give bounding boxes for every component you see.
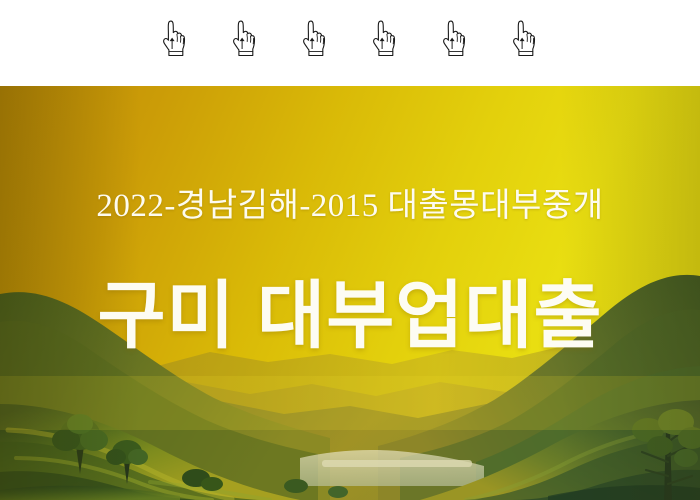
pointing-up-hand-icon bbox=[510, 18, 538, 60]
hero-banner: 2022-경남김해-2015 대출몽대부중개 구미 대부업대출 bbox=[0, 86, 700, 500]
icon-strip bbox=[0, 0, 700, 86]
pointing-up-hand-icon bbox=[440, 18, 468, 60]
sunset-valley-landscape-image bbox=[0, 86, 700, 500]
pointing-up-hand-icon bbox=[160, 18, 188, 60]
pointing-hand-icon-row bbox=[160, 18, 580, 64]
pointing-up-hand-icon bbox=[230, 18, 258, 60]
pointing-up-hand-icon bbox=[300, 18, 328, 60]
pointing-up-hand-icon bbox=[370, 18, 398, 60]
page-root: 2022-경남김해-2015 대출몽대부중개 구미 대부업대출 bbox=[0, 0, 700, 500]
